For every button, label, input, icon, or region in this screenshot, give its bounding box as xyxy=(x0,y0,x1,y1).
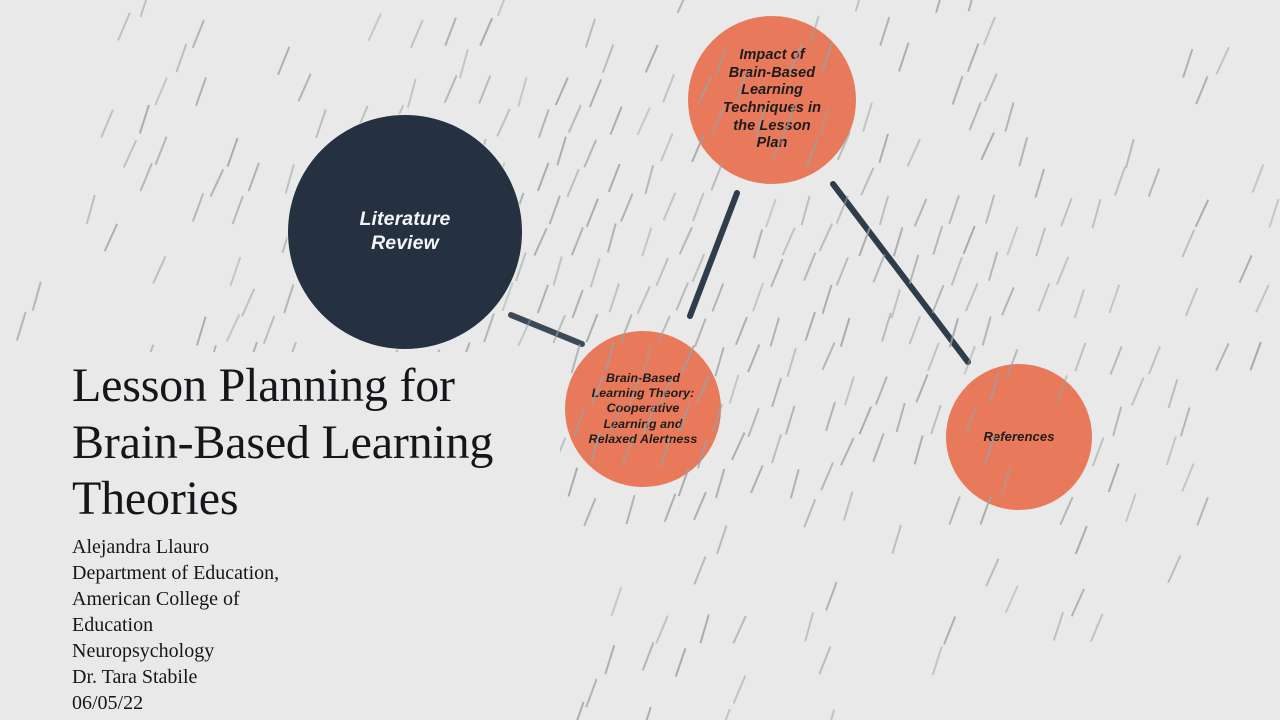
hatch-dash xyxy=(966,283,978,311)
hatch-dash xyxy=(823,343,835,370)
hatch-dash xyxy=(826,402,835,431)
hatch-dash xyxy=(676,283,688,311)
hatch-dash xyxy=(556,78,568,106)
hatch-dash xyxy=(1035,169,1044,198)
hatch-dash xyxy=(984,17,995,45)
hatch-dash xyxy=(411,20,423,48)
hatch-dash xyxy=(101,110,113,138)
hatch-dash xyxy=(1197,497,1208,525)
hatch-dash xyxy=(1256,285,1269,312)
hatch-dash xyxy=(643,643,654,671)
hatch-dash xyxy=(791,469,799,498)
hatch-dash xyxy=(638,108,650,135)
hatch-dash xyxy=(719,709,730,720)
hatch-dash xyxy=(730,375,739,404)
hatch-dash xyxy=(197,317,206,346)
topic-circle-label: References xyxy=(975,429,1062,445)
hatch-dash xyxy=(876,377,887,405)
hatch-dash xyxy=(156,137,167,165)
topic-circle-literature-review[interactable]: Literature Review xyxy=(288,115,522,349)
hatch-dash xyxy=(155,78,167,106)
hatch-dash xyxy=(748,345,759,373)
hatch-dash xyxy=(880,17,889,46)
connector-impact-to-references xyxy=(833,184,968,362)
topic-circle-label: Brain-Based Learning Theory: Cooperative… xyxy=(581,371,706,447)
hatch-dash xyxy=(233,196,243,224)
hatch-dash xyxy=(826,582,836,610)
hatch-dash xyxy=(627,495,635,524)
hatch-dash xyxy=(1168,556,1180,583)
hatch-dash xyxy=(736,317,747,345)
hatch-dash xyxy=(771,259,783,287)
hatch-dash xyxy=(638,286,650,313)
hatch-dash xyxy=(1196,76,1207,104)
hatch-dash xyxy=(856,0,864,12)
hatch-dash xyxy=(242,289,254,316)
hatch-dash xyxy=(1126,139,1134,168)
hatch-dash xyxy=(986,559,998,586)
hatch-dash xyxy=(717,526,727,554)
hatch-dash xyxy=(661,133,673,161)
hatch-dash xyxy=(1149,346,1160,374)
hatch-dash xyxy=(608,224,616,253)
hatch-dash xyxy=(284,285,293,314)
hatch-dash xyxy=(783,228,795,255)
hatch-dash xyxy=(1007,227,1017,255)
hatch-dash xyxy=(680,227,692,254)
hatch-dash xyxy=(1181,408,1190,437)
topic-circle-references[interactable]: References xyxy=(946,364,1092,510)
hatch-dash xyxy=(1167,436,1176,465)
hatch-dash xyxy=(944,617,955,645)
hatch-dash xyxy=(278,47,289,75)
hatch-dash xyxy=(1182,230,1194,258)
hatch-dash xyxy=(863,103,872,132)
hatch-dash xyxy=(231,257,241,285)
hatch-dash xyxy=(933,226,942,255)
hatch-dash xyxy=(678,0,691,13)
hatch-dash xyxy=(286,165,294,194)
hatch-dash xyxy=(586,19,595,48)
hatch-dash xyxy=(642,228,651,257)
hatch-dash xyxy=(538,285,548,313)
hatch-dash xyxy=(1111,347,1122,375)
hatch-dash xyxy=(882,313,891,342)
hatch-dash xyxy=(986,195,994,224)
hatch-dash xyxy=(176,44,186,72)
hatch-dash xyxy=(550,196,560,224)
hatch-dash xyxy=(553,315,565,343)
hatch-dash xyxy=(642,707,651,720)
hatch-dash xyxy=(645,165,653,194)
topic-circle-label: Literature Review xyxy=(352,208,459,256)
hatch-dash xyxy=(845,376,854,405)
hatch-dash xyxy=(1126,493,1136,521)
hatch-dash xyxy=(1002,287,1014,315)
hatch-dash xyxy=(554,257,562,286)
hatch-dash xyxy=(1186,288,1197,316)
hatch-dash xyxy=(539,109,549,137)
hatch-dash xyxy=(733,616,745,643)
hatch-dash xyxy=(786,406,795,435)
hatch-dash xyxy=(587,199,598,227)
hatch-dash xyxy=(772,378,781,407)
hatch-dash xyxy=(1093,199,1101,228)
topic-circle-label: Impact of Brain-Based Learning Technique… xyxy=(715,47,829,153)
hatch-dash xyxy=(676,648,686,676)
hatch-dash xyxy=(193,193,203,221)
hatch-dash xyxy=(754,229,762,258)
hatch-dash xyxy=(609,164,620,192)
hatch-dash xyxy=(1182,464,1193,492)
hatch-dash xyxy=(1183,49,1192,78)
hatch-dash xyxy=(1251,342,1261,370)
hatch-dash xyxy=(153,256,166,283)
hatch-dash xyxy=(712,284,723,312)
hatch-dash xyxy=(873,434,883,462)
hatch-dash xyxy=(1036,228,1045,257)
hatch-dash xyxy=(316,110,326,139)
hatch-dash xyxy=(964,346,975,374)
hatch-dash xyxy=(665,494,676,522)
hatch-dash xyxy=(587,314,598,342)
hatch-dash xyxy=(826,710,834,720)
hatch-dash xyxy=(964,226,975,254)
hatch-dash xyxy=(1005,103,1013,132)
hatch-dash xyxy=(910,316,921,344)
hatch-dash xyxy=(841,318,850,347)
hatch-dash xyxy=(802,196,810,225)
hatch-dash xyxy=(1109,285,1119,313)
hatch-dash xyxy=(227,314,240,341)
hatch-dash xyxy=(1149,169,1160,197)
hatch-dash xyxy=(715,347,723,376)
hatch-dash xyxy=(408,79,416,108)
hatch-dash xyxy=(656,258,668,286)
hatch-dash xyxy=(612,587,622,615)
hatch-dash xyxy=(694,557,705,585)
hatch-dash xyxy=(837,257,848,285)
hatch-dash xyxy=(196,77,206,105)
hatch-dash xyxy=(949,497,959,525)
connector-literature-review-to-theory xyxy=(511,315,582,344)
hatch-dash xyxy=(1113,407,1121,436)
hatch-dash xyxy=(1240,255,1252,282)
hatch-dash xyxy=(981,133,994,160)
hatch-dash xyxy=(118,13,130,41)
hatch-dash xyxy=(663,74,674,102)
hatch-dash xyxy=(484,314,494,342)
hatch-dash xyxy=(820,224,833,251)
hatch-dash xyxy=(841,438,854,465)
byline: Alejandra LlauroDepartment of Education,… xyxy=(72,534,592,716)
hatch-dash xyxy=(700,614,709,643)
hatch-dash xyxy=(970,102,981,130)
hatch-dash xyxy=(1076,526,1087,554)
byline-line: Dr. Tara Stabile xyxy=(72,664,592,690)
hatch-dash xyxy=(772,434,781,463)
hatch-dash xyxy=(732,433,745,460)
hatch-dash xyxy=(141,163,152,191)
hatch-dash xyxy=(140,105,149,134)
hatch-dash xyxy=(873,254,884,282)
hatch-dash xyxy=(193,20,204,48)
hatch-dash xyxy=(894,228,903,257)
hatch-dash xyxy=(694,492,706,520)
hatch-dash xyxy=(969,0,977,11)
hatch-dash xyxy=(1269,199,1278,228)
hatch-dash xyxy=(1109,464,1119,492)
hatch-dash xyxy=(716,469,724,498)
hatch-dash xyxy=(804,499,815,527)
hatch-dash xyxy=(1091,614,1103,642)
hatch-dash xyxy=(983,317,991,346)
hatch-dash xyxy=(1196,200,1209,227)
hatch-dash xyxy=(1132,378,1144,406)
hatch-dash xyxy=(33,282,41,311)
topic-circle-impact[interactable]: Impact of Brain-Based Learning Technique… xyxy=(688,16,856,184)
hatch-dash xyxy=(1075,343,1085,371)
byline-line: Education xyxy=(72,612,592,638)
hatch-dash xyxy=(821,463,833,491)
hatch-dash xyxy=(1169,379,1178,408)
hatch-dash xyxy=(480,18,492,46)
hatch-dash xyxy=(590,79,601,107)
hatch-dash xyxy=(1253,165,1264,193)
byline-line: 06/05/22 xyxy=(72,690,592,716)
hatch-dash xyxy=(479,76,490,104)
hatch-dash xyxy=(915,199,927,227)
hatch-dash xyxy=(695,319,706,347)
hatch-dash xyxy=(766,199,776,227)
hatch-dash xyxy=(1093,438,1104,466)
hatch-dash xyxy=(985,74,997,102)
hatch-dash xyxy=(910,255,919,284)
hatch-dash xyxy=(989,252,997,281)
hatch-dash xyxy=(928,343,939,371)
hatch-dash xyxy=(124,140,136,167)
hatch-dash xyxy=(748,408,758,436)
hatch-dash xyxy=(1216,343,1229,370)
hatch-dash xyxy=(1060,497,1072,524)
hatch-dash xyxy=(1115,167,1125,195)
hatch-dash xyxy=(933,646,942,675)
hatch-dash xyxy=(897,403,905,432)
byline-line: Department of Education, xyxy=(72,560,592,586)
hatch-dash xyxy=(538,163,549,191)
hatch-dash xyxy=(950,318,958,347)
hatch-dash xyxy=(664,193,676,221)
hatch-dash xyxy=(693,254,705,282)
hatch-dash xyxy=(892,289,901,318)
hatch-dash xyxy=(87,195,95,224)
hatch-dash xyxy=(1075,290,1084,319)
hatch-dash xyxy=(497,109,510,136)
hatch-dash xyxy=(591,259,600,288)
hatch-dash xyxy=(264,316,275,344)
hatch-dash xyxy=(1216,47,1229,74)
hatch-dash xyxy=(569,105,581,133)
hatch-dash xyxy=(567,169,578,197)
hatch-dash xyxy=(557,137,566,166)
hatch-dash xyxy=(734,676,746,704)
hatch-dash xyxy=(249,163,259,191)
hatch-dash xyxy=(861,168,873,195)
hatch-dash xyxy=(611,107,622,135)
hatch-dash xyxy=(534,228,546,255)
hatch-dash xyxy=(805,612,813,641)
page-title: Lesson Planning for Brain-Based Learning… xyxy=(72,358,592,528)
hatch-dash xyxy=(211,169,224,196)
hatch-dash xyxy=(949,196,959,224)
hatch-dash xyxy=(584,140,596,168)
hatch-dash xyxy=(880,196,888,225)
hatch-dash xyxy=(931,405,940,433)
hatch-dash xyxy=(953,76,963,104)
hatch-dash xyxy=(1039,283,1050,311)
hatch-dash xyxy=(819,647,830,675)
hatch-dash xyxy=(933,285,944,313)
hatch-dash xyxy=(916,374,927,402)
hatch-dash xyxy=(1061,198,1072,226)
hatch-dash xyxy=(228,138,238,166)
hatch-dash xyxy=(1057,257,1068,285)
presentation-slide: Literature Review Impact of Brain-Based … xyxy=(0,0,1280,720)
hatch-dash xyxy=(17,312,26,341)
hatch-dash xyxy=(952,257,962,285)
hatch-dash xyxy=(879,134,888,163)
hatch-dash xyxy=(823,285,832,314)
hatch-dash xyxy=(369,13,382,40)
hatch-dash xyxy=(753,283,763,311)
hatch-dash xyxy=(899,43,909,72)
byline-line: American College of xyxy=(72,586,592,612)
hatch-dash xyxy=(936,0,944,13)
hatch-dash xyxy=(787,348,796,377)
hatch-dash xyxy=(621,194,633,222)
hatch-dash xyxy=(572,227,583,255)
hatch-dash xyxy=(610,284,619,313)
hatch-dash xyxy=(656,616,668,644)
byline-line: Neuropsychology xyxy=(72,638,592,664)
title-block: Lesson Planning for Brain-Based Learning… xyxy=(72,358,592,716)
hatch-dash xyxy=(693,193,704,221)
hatch-dash xyxy=(1072,589,1084,616)
hatch-dash xyxy=(141,0,150,17)
hatch-dash xyxy=(860,407,872,435)
hatch-dash xyxy=(299,74,311,102)
hatch-dash xyxy=(771,318,780,347)
hatch-dash xyxy=(804,253,815,281)
hatch-dash xyxy=(844,492,853,521)
hatch-dash xyxy=(1054,612,1063,641)
hatch-dash xyxy=(445,18,456,46)
hatch-dash xyxy=(518,77,526,106)
hatch-dash xyxy=(603,45,613,73)
hatch-dash xyxy=(646,45,658,72)
byline-line: Alejandra Llauro xyxy=(72,534,592,560)
hatch-dash xyxy=(806,312,816,340)
connector-theory-to-impact xyxy=(690,193,737,316)
hatch-dash xyxy=(498,0,509,16)
hatch-dash xyxy=(1019,137,1027,166)
hatch-dash xyxy=(908,139,921,166)
hatch-dash xyxy=(751,465,763,493)
hatch-dash xyxy=(460,49,468,78)
hatch-dash xyxy=(859,228,870,256)
hatch-dash xyxy=(968,44,979,72)
hatch-dash xyxy=(1006,586,1018,613)
hatch-dash xyxy=(445,75,457,103)
hatch-dash xyxy=(573,290,583,318)
hatch-dash xyxy=(892,525,901,554)
hatch-dash xyxy=(518,319,531,346)
hatch-dash xyxy=(605,645,614,674)
hatch-dash xyxy=(837,196,848,224)
hatch-dash xyxy=(105,224,117,251)
hatch-dash xyxy=(915,436,923,465)
